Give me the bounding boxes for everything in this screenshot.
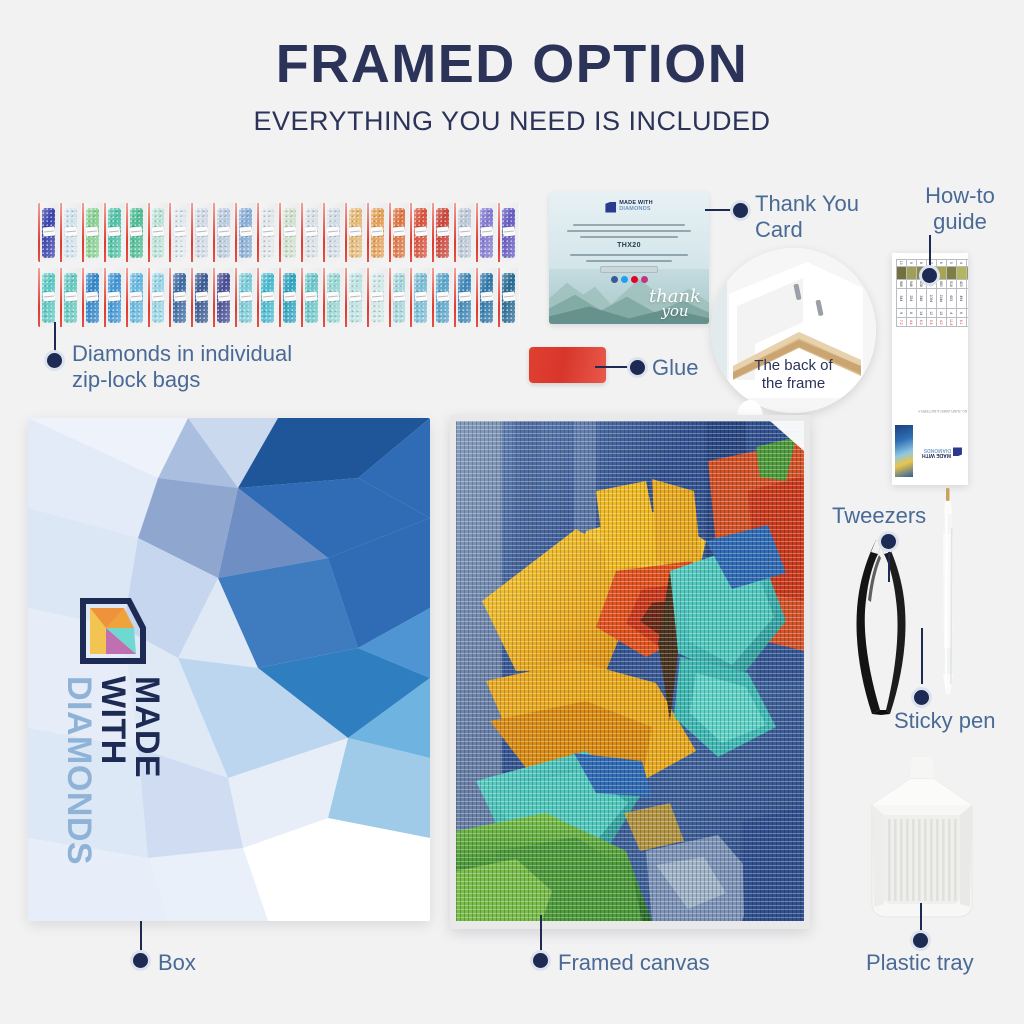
bag-gloss: [191, 203, 212, 262]
zip-lock-bag-row-1: [38, 203, 520, 262]
zip-lock-bag: [498, 203, 520, 262]
guide-table-cell: 680: [937, 279, 947, 288]
guide-table-cell: 4.4: [907, 318, 917, 327]
callout-thank-you: Thank You Card: [755, 191, 905, 243]
bag-gloss: [498, 203, 519, 262]
bag-gloss: [323, 203, 344, 262]
guide-footer-note: NO. SUNFLOWER & BUTTERFLY: [918, 409, 967, 413]
guide-table-cell: 373: [967, 279, 969, 288]
bag-gloss: [235, 268, 256, 327]
tweezers-item: [850, 530, 912, 715]
guide-table-cell: 254: [907, 289, 917, 309]
zip-lock-bag: [279, 268, 301, 327]
guide-table-cell: 420: [957, 279, 967, 288]
guide-table-cell: 10: [897, 260, 907, 267]
card-promo-code: THX20: [563, 242, 694, 249]
bag-gloss: [257, 203, 278, 262]
leader-tweezers: [888, 545, 890, 582]
bag-gloss: [454, 268, 475, 327]
bag-gloss: [301, 203, 322, 262]
bag-gloss: [169, 203, 190, 262]
zip-lock-bag: [279, 203, 301, 262]
zip-lock-bag: [476, 203, 498, 262]
zip-lock-bag: [323, 268, 345, 327]
zip-lock-bag: [410, 203, 432, 262]
bag-gloss: [498, 268, 519, 327]
bag-gloss: [126, 268, 147, 327]
guide-table-cell: [947, 266, 957, 279]
bag-gloss: [257, 268, 278, 327]
bag-gloss: [191, 268, 212, 327]
zip-lock-bag: [104, 203, 126, 262]
guide-table-cell: 518: [947, 279, 957, 288]
guide-table-cell: 946: [907, 279, 917, 288]
plastic-tray-item: [866, 757, 978, 922]
guide-table-cell: 9: [907, 260, 917, 267]
bag-gloss: [410, 268, 431, 327]
dot-how-to: [922, 268, 937, 283]
guide-table-cell: 344: [897, 289, 907, 309]
zip-lock-bag: [432, 268, 454, 327]
callout-how-to: How-to guide: [890, 183, 1024, 235]
guide-table-row: 5518653411.8: [947, 260, 957, 327]
zip-lock-bag: [476, 268, 498, 327]
plastic-tray-icon: [866, 757, 978, 922]
zip-lock-bag: [367, 268, 389, 327]
guide-table-row: 6680214d134.2: [937, 260, 947, 327]
callout-framed-canvas: Framed canvas: [558, 950, 788, 976]
box-brand-lockup: MADE WITH DIAMONDS: [62, 598, 164, 865]
guide-table-cell: 1054: [927, 289, 937, 309]
zip-lock-bag: [432, 203, 454, 262]
bag-gloss: [476, 268, 497, 327]
tweezers-icon: [850, 530, 912, 715]
facebook-icon: [611, 276, 618, 283]
bag-gloss: [38, 203, 59, 262]
guide-brand-text: MADE WITH DIAMONDS: [922, 447, 951, 458]
guide-table-cell: 14: [917, 308, 927, 318]
dot-sticky-pen: [914, 690, 929, 705]
box-brand-text: MADE WITH DIAMONDS: [62, 676, 164, 865]
bag-gloss: [345, 268, 366, 327]
guide-table-row: 994625484.4: [907, 260, 917, 327]
guide-artwork-thumbnail: [895, 425, 913, 477]
bag-gloss: [148, 268, 169, 327]
bag-gloss: [104, 203, 125, 262]
guide-table-row: 337319047.1: [967, 260, 969, 327]
guide-table-cell: 4: [947, 308, 957, 318]
guide-table-cell: 11.8: [947, 318, 957, 327]
dot-diamonds: [47, 353, 62, 368]
guide-table-cell: 4: [957, 260, 967, 267]
bag-gloss: [126, 203, 147, 262]
zip-lock-bag: [60, 268, 82, 327]
instagram-icon: [641, 276, 648, 283]
bag-gloss: [60, 203, 81, 262]
guide-table-row: 1098634497.2: [897, 260, 907, 327]
zip-lock-bag: [213, 203, 235, 262]
bag-gloss: [476, 203, 497, 262]
zip-lock-bag: [345, 203, 367, 262]
dot-glue: [630, 360, 645, 375]
infographic-stage: FRAMED OPTION EVERYTHING YOU NEED IS INC…: [0, 0, 1024, 1024]
zip-lock-bag: [389, 268, 411, 327]
zip-lock-bag: [38, 268, 60, 327]
callout-box: Box: [158, 950, 278, 976]
bag-gloss: [148, 203, 169, 262]
bag-gloss: [104, 268, 125, 327]
guide-table-row: 442049466.1: [957, 260, 967, 327]
dot-plastic-tray: [913, 933, 928, 948]
guide-table-cell: 7.1: [967, 318, 969, 327]
callout-sticky-pen: Sticky pen: [894, 708, 1024, 734]
guide-table-cell: 5: [947, 260, 957, 267]
bag-gloss: [82, 203, 103, 262]
bag-gloss: [213, 268, 234, 327]
guide-table-cell: 494: [957, 289, 967, 309]
zip-lock-bag: [169, 203, 191, 262]
leader-plastic-tray: [920, 903, 922, 935]
guide-table-cell: 348: [917, 289, 927, 309]
product-box: MADE WITH DIAMONDS: [28, 418, 430, 921]
zip-lock-bag: [301, 268, 323, 327]
bag-gloss: [323, 268, 344, 327]
zip-lock-bag: [148, 268, 170, 327]
bag-gloss: [389, 203, 410, 262]
bag-gloss: [301, 268, 322, 327]
guide-table-cell: [897, 266, 907, 279]
how-to-guide: No.SymbolDMCQuantity / gBagsPCS116810-34…: [892, 253, 968, 485]
zip-lock-bag: [38, 203, 60, 262]
zip-lock-bag: [257, 268, 279, 327]
bag-gloss: [279, 203, 300, 262]
zip-lock-bag: [345, 268, 367, 327]
card-social-icons: [563, 276, 694, 283]
guide-table-cell: 986: [897, 279, 907, 288]
card-message: THX20: [563, 224, 694, 283]
sticky-pen-item: [936, 488, 960, 698]
guide-table-cell: 6.3: [917, 318, 927, 327]
zip-lock-bag: [82, 203, 104, 262]
zip-lock-bag: [323, 203, 345, 262]
bag-gloss: [235, 203, 256, 262]
guide-table-cell: 5.4: [927, 318, 937, 327]
bag-gloss: [367, 268, 388, 327]
bag-gloss: [213, 203, 234, 262]
bag-gloss: [279, 268, 300, 327]
bag-gloss: [345, 203, 366, 262]
bag-gloss: [82, 268, 103, 327]
guide-table-cell: 7: [927, 260, 937, 267]
canvas-sheen: [456, 421, 804, 921]
callout-tweezers: Tweezers: [832, 503, 992, 529]
guide-table-cell: 4.2: [937, 318, 947, 327]
zip-lock-bag: [257, 203, 279, 262]
guide-table-cell: 7.2: [897, 318, 907, 327]
dot-tweezers: [881, 534, 896, 549]
guide-table-cell: 4: [967, 308, 969, 318]
dot-framed-canvas: [533, 953, 548, 968]
guide-table-cell: 12: [927, 308, 937, 318]
twitter-icon: [621, 276, 628, 283]
guide-brand-logo: MADE WITH DIAMONDS: [922, 431, 962, 473]
guide-table-cell: 3: [967, 260, 969, 267]
zip-lock-bag: [126, 203, 148, 262]
guide-table-cell: 190: [967, 289, 969, 309]
leader-diamonds: [54, 322, 56, 356]
zip-lock-bag: [301, 203, 323, 262]
callout-plastic-tray: Plastic tray: [866, 950, 1024, 976]
card-handle-pill: [600, 266, 657, 273]
zip-lock-bag: [454, 268, 476, 327]
framed-canvas: [450, 415, 810, 929]
bag-gloss: [60, 268, 81, 327]
bag-gloss: [38, 268, 59, 327]
leader-framed-canvas: [540, 915, 542, 955]
zip-lock-bag: [60, 203, 82, 262]
card-brand-text: MADE WITH DIAMONDS: [619, 201, 653, 213]
guide-table-cell: 13: [937, 308, 947, 318]
zip-lock-bag: [389, 203, 411, 262]
dot-box: [133, 953, 148, 968]
thank-you-card: MADE WITH DIAMONDS THX20 thank you: [549, 192, 709, 324]
frame-back-bubble: The back of the frame: [711, 248, 876, 413]
bag-gloss: [169, 268, 190, 327]
dot-thank-you: [733, 203, 748, 218]
canvas-mosaic: [456, 421, 804, 921]
guide-table-cell: 653: [947, 289, 957, 309]
zip-lock-bag: [235, 203, 257, 262]
sticky-pen-icon: [936, 488, 960, 698]
guide-table-cell: 6: [937, 260, 947, 267]
diamond-logo-mark-icon: [953, 448, 962, 457]
guide-table-cell: [937, 266, 947, 279]
card-brand-logo: MADE WITH DIAMONDS: [605, 201, 653, 213]
zip-lock-bag: [213, 268, 235, 327]
zip-lock-bag-row-2: [38, 268, 520, 327]
zip-lock-bag: [454, 203, 476, 262]
bag-gloss: [410, 203, 431, 262]
zip-lock-bag: [148, 203, 170, 262]
bag-gloss: [454, 203, 475, 262]
diamond-logo-mark-icon: [80, 598, 146, 664]
zip-lock-bag: [191, 203, 213, 262]
zip-lock-bag: [104, 268, 126, 327]
guide-table-cell: 8: [917, 260, 927, 267]
bag-gloss: [367, 203, 388, 262]
guide-table-cell: [907, 266, 917, 279]
guide-table-cell: 6: [957, 308, 967, 318]
callout-glue: Glue: [652, 355, 772, 381]
zip-lock-bag: [498, 268, 520, 327]
leader-sticky-pen: [921, 628, 923, 684]
guide-table-cell: 6.1: [957, 318, 967, 327]
leader-box: [140, 921, 142, 955]
callout-diamonds: Diamonds in individual zip-lock bags: [72, 341, 372, 393]
zip-lock-bag: [367, 203, 389, 262]
bag-gloss: [432, 268, 453, 327]
guide-table-cell: 8: [907, 308, 917, 318]
bag-gloss: [389, 268, 410, 327]
guide-table-cell: [957, 266, 967, 279]
pinterest-icon: [631, 276, 638, 283]
zip-lock-bag: [169, 268, 191, 327]
zip-lock-bag: [410, 268, 432, 327]
zip-lock-bag: [126, 268, 148, 327]
zip-lock-bag: [191, 268, 213, 327]
card-thank-you-script: thank you: [649, 289, 701, 317]
guide-table-cell: 9: [897, 308, 907, 318]
guide-table-cell: 214d: [937, 289, 947, 309]
diamond-logo-mark-icon: [605, 202, 616, 213]
bag-gloss: [432, 203, 453, 262]
guide-table-cell: [967, 266, 969, 279]
zip-lock-bag: [82, 268, 104, 327]
page-title: FRAMED OPTION: [0, 36, 1024, 93]
page-subtitle: EVERYTHING YOU NEED IS INCLUDED: [0, 106, 1024, 137]
glue-item: [529, 347, 606, 383]
zip-lock-bag: [235, 268, 257, 327]
